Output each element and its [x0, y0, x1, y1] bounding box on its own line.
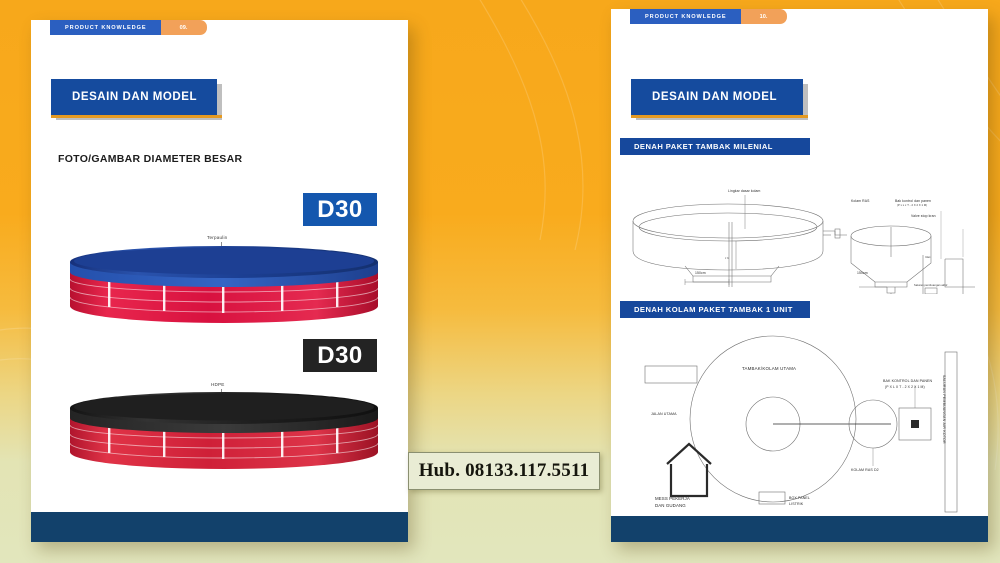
- callout-label-terpaulin: Terpaulin: [207, 235, 227, 240]
- page-right-footer-bar: [611, 516, 988, 542]
- diagram-label-inlet: Inlet: [925, 256, 930, 259]
- diagram-label-pipe-left-150cm: 150cm: [695, 271, 706, 275]
- page-right-header-tagstrip: PRODUCT KNOWLEDGE 10.: [630, 9, 787, 24]
- diagram-label-pipe-right-150cm: 150cm: [857, 271, 868, 275]
- plan-label-mess-pekerja: MESS PEKERJA: [655, 496, 690, 501]
- page-right-title: DESAIN DAN MODEL: [631, 79, 803, 115]
- plan-label-mess-pekerja-gudang: DAN GUDANG: [655, 503, 686, 508]
- page-left-subtitle: FOTO/GAMBAR DIAMETER BESAR: [58, 153, 242, 165]
- section-heading-denah-kolam-paket-tambak-1-unit: DENAH KOLAM PAKET TAMBAK 1 UNIT: [620, 301, 810, 318]
- plan-label-bak-kontrol-dan-panen: BAK KONTROL DAN PANEN: [883, 379, 932, 383]
- diagram-denah-kolam-plan: [623, 324, 981, 519]
- tank-illustration-terpaulin: [66, 244, 382, 329]
- diagram-label-kolam-ras: Kolam RAS: [851, 199, 869, 203]
- plan-label-tambak-kolam-utama: TAMBAK/KOLAM UTAMA: [742, 366, 796, 371]
- page-left: PRODUCT KNOWLEDGE 09. DESAIN DAN MODEL F…: [31, 20, 408, 542]
- section-heading-denah-paket-tambak-milenial: DENAH PAKET TAMBAK MILENIAL: [620, 138, 810, 155]
- page-number-badge: 10.: [741, 9, 787, 24]
- page-left-footer-bar: [31, 512, 408, 542]
- page-number-badge: 09.: [161, 20, 207, 35]
- plan-label-bak-kontrol-dimensions: (P X L X T - 2 X 2 X 1 M): [885, 385, 925, 389]
- plan-label-jalan-utama: JALAN UTAMA: [651, 412, 677, 416]
- badge-d30-terpaulin: D30: [303, 193, 377, 226]
- tank-illustration-hdpe: [66, 390, 382, 475]
- page-left-title-underline: [51, 115, 222, 118]
- diagram-label-lingkar-dasar-kolam: Lingkar dasar kolam: [728, 189, 760, 193]
- badge-d30-hdpe: D30: [303, 339, 377, 372]
- plan-label-box-panel-listrik: LISTRIK: [789, 502, 803, 506]
- plan-label-saluran-pembuangan-air-kotor: SALURAN PEMBUANGAN AIR KOTOR: [942, 375, 946, 444]
- product-knowledge-tag: PRODUCT KNOWLEDGE: [50, 20, 161, 35]
- product-knowledge-tag: PRODUCT KNOWLEDGE: [630, 9, 741, 24]
- callout-label-hdpe: HDPE: [211, 382, 225, 387]
- contact-phone-badge: Hub. 08133.117.5511: [408, 452, 600, 490]
- svg-text:2 M: 2 M: [725, 256, 729, 260]
- diagram-label-bak-kontrol-dimensions: (P x L x T - 2 X 2 X 1 M): [897, 204, 927, 207]
- page-left-title: DESAIN DAN MODEL: [51, 79, 217, 115]
- diagram-tambak-milenial: 2 M: [623, 169, 981, 294]
- plan-label-kolam-ras-d2: KOLAM RAS D2: [851, 468, 879, 472]
- page-right: PRODUCT KNOWLEDGE 10. DESAIN DAN MODEL D…: [611, 9, 988, 542]
- diagram-label-bak-kontrol-dan-panen: Bak kontrol dan panen: [895, 199, 931, 203]
- diagram-label-valve-stop-kran: Valve stop kran: [911, 214, 936, 218]
- slide-canvas: PRODUCT KNOWLEDGE 09. DESAIN DAN MODEL F…: [0, 0, 1000, 563]
- plan-label-box-panel: BOX PANEL: [789, 496, 810, 500]
- page-left-header-tagstrip: PRODUCT KNOWLEDGE 09.: [50, 20, 207, 35]
- diagram-label-saluran-pembuangan-akhir: Saluran pembuangan akhir: [914, 284, 948, 287]
- page-right-title-underline: [631, 115, 808, 118]
